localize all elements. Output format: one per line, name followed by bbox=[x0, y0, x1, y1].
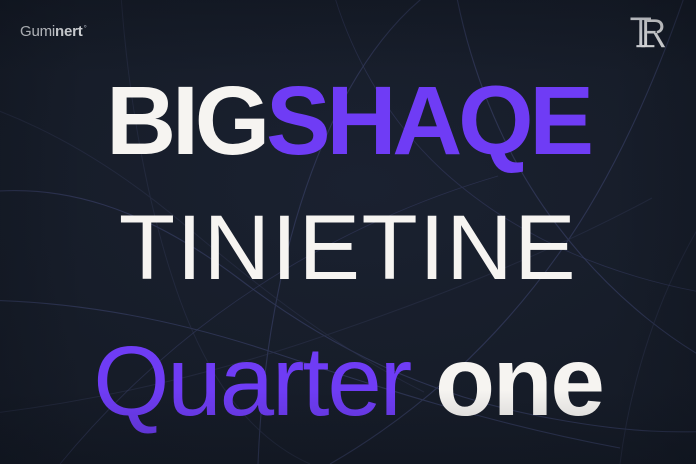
type-specimen-poster: Guminert° BI bbox=[0, 0, 696, 464]
poster-header: Guminert° bbox=[0, 0, 696, 62]
edge-vignette bbox=[0, 0, 696, 464]
tr-monogram-svg bbox=[625, 10, 669, 54]
headline-space bbox=[410, 326, 435, 436]
background-curves bbox=[0, 0, 696, 464]
headline-stack: BIGSHAQE TINIETINE Quarter one bbox=[0, 0, 696, 464]
headline-word-tinietine: TINIETINE bbox=[119, 197, 577, 299]
brand-logo: Guminert° bbox=[20, 24, 86, 39]
brand-registered-mark: ° bbox=[84, 25, 87, 33]
headline-word-one: one bbox=[435, 326, 603, 436]
brand-name-light: Gumi bbox=[20, 24, 55, 39]
headline-word-quarter: Quarter bbox=[93, 326, 410, 436]
headline-line-2: TINIETINE bbox=[0, 202, 696, 294]
brand-name-bold: nert bbox=[55, 24, 83, 39]
headline-word-big: BIG bbox=[106, 66, 266, 175]
headline-line-3: Quarter one bbox=[0, 332, 696, 430]
headline-word-shaqe: SHAQE bbox=[266, 66, 590, 175]
tr-monogram-icon bbox=[624, 9, 670, 55]
headline-line-1: BIGSHAQE bbox=[0, 72, 696, 169]
